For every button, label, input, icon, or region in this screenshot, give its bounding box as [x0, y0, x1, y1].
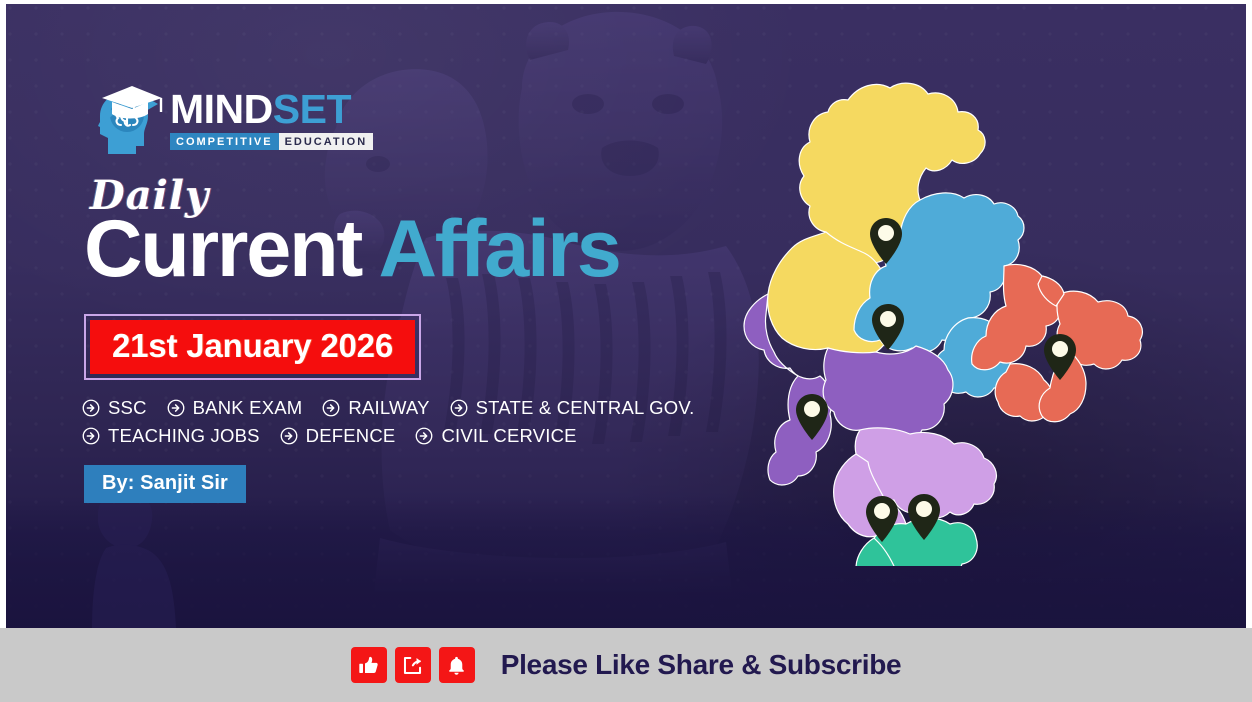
exam-tag-row: TEACHING JOBS DEFENCE	[82, 422, 742, 450]
title-affairs: Affairs	[378, 204, 619, 294]
logo-word: MINDSET	[170, 90, 373, 129]
exam-tag-civil-cervice: CIVIL CERVICE	[415, 425, 576, 447]
graduate-brain-head-icon	[82, 82, 168, 158]
exam-tag-label: BANK EXAM	[193, 397, 303, 419]
arrow-circle-right-icon	[450, 399, 468, 417]
logo-tagline: COMPETITIVE EDUCATION	[170, 133, 373, 150]
cta-icon-group	[351, 647, 483, 683]
exam-tag-list: SSC BANK EXAM	[82, 394, 742, 450]
exam-tag-label: DEFENCE	[306, 425, 396, 447]
cta-text: Please Like Share & Subscribe	[501, 649, 902, 681]
brand-logo[interactable]: MINDSET COMPETITIVE EDUCATION	[82, 82, 373, 158]
exam-tag-label: SSC	[108, 397, 147, 419]
exam-tag-row: SSC BANK EXAM	[82, 394, 742, 422]
cta-bar: Please Like Share & Subscribe	[0, 628, 1252, 702]
author-badge: By: Sanjit Sir	[84, 465, 246, 503]
artwork-stage: MINDSET COMPETITIVE EDUCATION Daily Curr…	[6, 4, 1246, 628]
exam-tag-ssc: SSC	[82, 397, 147, 419]
exam-tag-label: STATE & CENTRAL GOV.	[476, 397, 695, 419]
exam-tag-label: CIVIL CERVICE	[441, 425, 576, 447]
arrow-circle-right-icon	[167, 399, 185, 417]
arrow-circle-right-icon	[415, 427, 433, 445]
arrow-circle-right-icon	[82, 427, 100, 445]
arrow-circle-right-icon	[280, 427, 298, 445]
title-current: Current	[84, 204, 361, 294]
arrow-circle-right-icon	[82, 399, 100, 417]
exam-tag-label: RAILWAY	[348, 397, 429, 419]
india-map	[730, 66, 1150, 566]
poster: MINDSET COMPETITIVE EDUCATION Daily Curr…	[0, 0, 1252, 702]
date-badge: 21st January 2026	[84, 314, 421, 380]
logo-word-mind: MIND	[170, 86, 273, 132]
exam-tag-railway: RAILWAY	[322, 397, 429, 419]
thumbs-up-icon[interactable]	[351, 647, 387, 683]
bell-icon[interactable]	[439, 647, 475, 683]
logo-tagline-education: EDUCATION	[279, 133, 374, 150]
share-icon[interactable]	[395, 647, 431, 683]
logo-tagline-competitive: COMPETITIVE	[170, 133, 279, 150]
exam-tag-state-central-gov: STATE & CENTRAL GOV.	[450, 397, 695, 419]
arrow-circle-right-icon	[322, 399, 340, 417]
map-region-maharashtra	[823, 346, 953, 442]
page-title: Current Affairs	[84, 209, 620, 290]
exam-tag-label: TEACHING JOBS	[108, 425, 260, 447]
date-text: 21st January 2026	[90, 320, 415, 374]
logo-wordmark: MINDSET COMPETITIVE EDUCATION	[170, 90, 373, 150]
logo-word-set: SET	[273, 86, 351, 132]
exam-tag-defence: DEFENCE	[280, 425, 396, 447]
exam-tag-teaching-jobs: TEACHING JOBS	[82, 425, 260, 447]
exam-tag-bank-exam: BANK EXAM	[167, 397, 303, 419]
